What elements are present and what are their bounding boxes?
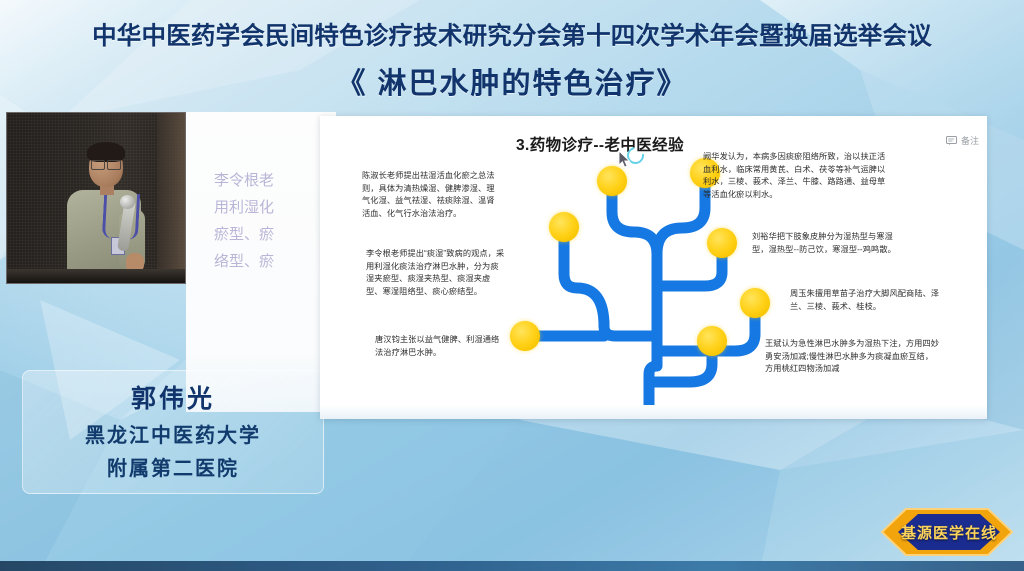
cursor-arrow-icon xyxy=(619,151,631,173)
speaker-org-line1: 黑龙江中医药大学 xyxy=(23,415,323,448)
slide-text-left-3: 唐汉钧主张以益气健脾、利湿通络法治疗淋巴水肿。 xyxy=(375,334,507,359)
header: 中华中医药学会民间特色诊疗技术研究分会第十四次学术年会暨换届选举会议 《 淋巴水… xyxy=(0,0,1024,106)
slide-text-right-2: 刘裕华把下肢象皮肿分为湿热型与寒湿型，湿热型--防己饮，寒湿型--鸡鸣散。 xyxy=(752,231,902,256)
brand-logo[interactable]: 基源医学在线 xyxy=(876,501,1018,563)
speaker-video-feed[interactable] xyxy=(6,112,186,284)
bottom-band xyxy=(0,561,1024,571)
slide-text-right-1: 阙华发认为，本病多因痰瘀阻络所致，治以扶正活血利水，临床常用黄芪、白术、茯苓等补… xyxy=(703,151,891,201)
slide-text-right-4: 王斌认为急性淋巴水肿多为湿热下注，方用四妙勇安汤加减;慢性淋巴水肿多为痰凝血瘀互… xyxy=(765,338,940,376)
video-floor xyxy=(7,269,185,283)
mouse-cursor xyxy=(619,147,645,173)
microphone-head xyxy=(120,195,135,209)
presenter-glasses xyxy=(91,160,121,168)
slide-bottom-fade xyxy=(320,405,987,419)
ghost-line: 李令根老 xyxy=(186,167,336,194)
slide-text-left-1: 陈淑长老师提出祛湿活血化瘀之总法则，具体为清热燥湿、健脾渗湿、理气化湿、益气祛湿… xyxy=(362,170,502,220)
notes-chip[interactable]: 备注 xyxy=(946,134,979,147)
slide-text-left-2: 李令根老师提出“痰湿”致病的观点，采用利湿化痰法治疗淋巴水肿，分为痰湿夹瘀型、痰… xyxy=(366,248,506,298)
speaker-org-line2: 附属第二医院 xyxy=(23,448,323,481)
slide-text-right-3: 周玉朱擅用草苗子治疗大脚风配商陆、泽兰、三棱、莪术、桂枝。 xyxy=(790,288,940,313)
notes-label: 备注 xyxy=(961,134,979,147)
speaker-name: 郭伟光 xyxy=(23,371,323,415)
webinar-screen: 中华中医药学会民间特色诊疗技术研究分会第十四次学术年会暨换届选举会议 《 淋巴水… xyxy=(0,0,1024,571)
presenter-hair xyxy=(87,142,125,162)
presentation-slide[interactable]: 3.药物诊疗--老中医经验 备注 xyxy=(320,116,987,419)
conference-title: 中华中医药学会民间特色诊疗技术研究分会第十四次学术年会暨换届选举会议 xyxy=(0,0,1024,52)
ghost-line: 络型、瘀 xyxy=(186,248,336,275)
video-wall-edge xyxy=(157,113,185,283)
ghost-line: 瘀型、瘀 xyxy=(186,221,336,248)
background-projection: 李令根老 用利湿化 瘀型、瘀 络型、瘀 xyxy=(186,112,336,412)
speaker-card: 郭伟光 黑龙江中医药大学 附属第二医院 xyxy=(22,370,324,494)
ghost-line: 用利湿化 xyxy=(186,194,336,221)
comment-icon xyxy=(946,136,957,145)
logo-text: 基源医学在线 xyxy=(876,501,1018,563)
talk-title: 《 淋巴水肿的特色治疗》 xyxy=(0,52,1024,102)
